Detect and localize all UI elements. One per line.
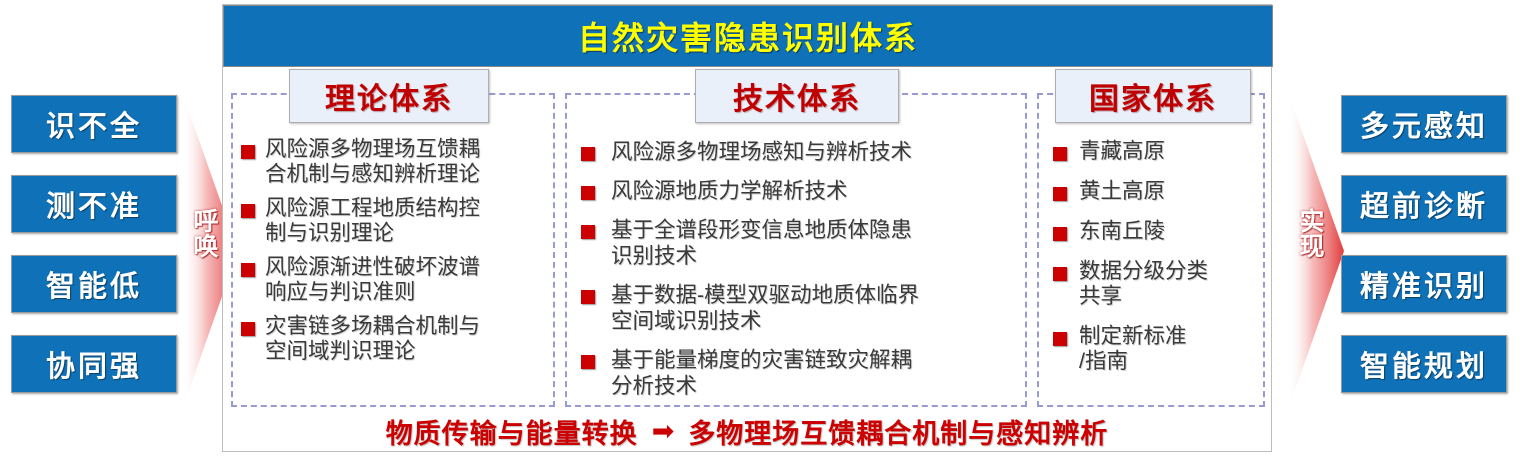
list-item: 东南丘陵 — [1049, 219, 1259, 244]
list-item: 数据分级分类 共享 — [1049, 259, 1259, 309]
right-item-1[interactable]: 超前诊断 — [1341, 175, 1507, 233]
list-item: 风险源多物理场感知与辨析技术 — [577, 139, 1021, 165]
right-item-1-label: 超前诊断 — [1360, 183, 1488, 225]
list-item: 基于数据-模型双驱动地质体临界 空间域识别技术 — [577, 282, 1021, 334]
list-item: 风险源多物理场互馈耦 合机制与感知辨析理论 — [239, 137, 549, 187]
column-national-header: 国家体系 — [1055, 69, 1251, 123]
list-item: 青藏高原 — [1049, 139, 1259, 164]
column-national-header-label: 国家体系 — [1089, 74, 1217, 118]
panel-footer: 物质传输与能量转换 ➡ 多物理场互馈耦合机制与感知辨析 — [223, 409, 1271, 453]
main-framework-panel: 自然灾害隐患识别体系 理论体系 风险源多物理场互馈耦 合机制与感知辨析理论 风险… — [222, 4, 1272, 452]
right-arrow-group: 实 现 — [1284, 92, 1348, 410]
left-problem-column: 识不全 测不准 智能低 协同强 — [11, 95, 177, 415]
right-item-2-label: 精准识别 — [1360, 263, 1488, 305]
right-arrow-label-line1: 实 — [1288, 210, 1336, 235]
right-goal-column: 多元感知 超前诊断 精准识别 智能规划 — [1341, 95, 1507, 415]
diagram-root: 识不全 测不准 智能低 协同强 呼 唤 — [0, 0, 1540, 456]
left-item-1[interactable]: 测不准 — [11, 175, 177, 233]
left-item-0[interactable]: 识不全 — [11, 95, 177, 153]
panel-title-bar: 自然灾害隐患识别体系 — [223, 5, 1273, 67]
column-theory-header-label: 理论体系 — [325, 74, 453, 118]
left-item-0-label: 识不全 — [46, 103, 142, 145]
column-theory: 理论体系 风险源多物理场互馈耦 合机制与感知辨析理论 风险源工程地质结构控 制与… — [231, 93, 555, 407]
right-item-3-label: 智能规划 — [1360, 343, 1488, 385]
left-item-2-label: 智能低 — [46, 263, 142, 305]
list-item: 基于能量梯度的灾害链致灾解耦 分析技术 — [577, 347, 1021, 399]
column-technology-header: 技术体系 — [695, 69, 899, 123]
list-item: 黄土高原 — [1049, 179, 1259, 204]
footer-right-text: 多物理场互馈耦合机制与感知辨析 — [688, 412, 1108, 451]
list-item: 风险源地质力学解析技术 — [577, 178, 1021, 204]
left-item-3[interactable]: 协同强 — [11, 335, 177, 393]
right-item-3[interactable]: 智能规划 — [1341, 335, 1507, 393]
right-arrow-label-line2: 现 — [1288, 235, 1336, 260]
column-national-list: 青藏高原 黄土高原 东南丘陵 数据分级分类 共享 制定新标准 /指南 — [1049, 139, 1259, 389]
right-item-0[interactable]: 多元感知 — [1341, 95, 1507, 153]
column-theory-header: 理论体系 — [289, 69, 489, 123]
list-item: 灾害链多场耦合机制与 空间域判识理论 — [239, 314, 549, 364]
column-technology: 技术体系 风险源多物理场感知与辨析技术 风险源地质力学解析技术 基于全谱段形变信… — [565, 93, 1027, 407]
column-technology-list: 风险源多物理场感知与辨析技术 风险源地质力学解析技术 基于全谱段形变信息地质体隐… — [577, 139, 1021, 412]
left-item-2[interactable]: 智能低 — [11, 255, 177, 313]
right-item-2[interactable]: 精准识别 — [1341, 255, 1507, 313]
list-item: 基于全谱段形变信息地质体隐患 识别技术 — [577, 217, 1021, 269]
list-item: 制定新标准 /指南 — [1049, 324, 1259, 374]
left-item-3-label: 协同强 — [46, 343, 142, 385]
column-theory-list: 风险源多物理场互馈耦 合机制与感知辨析理论 风险源工程地质结构控 制与识别理论 … — [239, 137, 549, 373]
footer-arrow-icon: ➡ — [652, 418, 675, 445]
footer-left-text: 物质传输与能量转换 — [386, 412, 638, 451]
list-item: 风险源渐进性破坏波谱 响应与判识准则 — [239, 255, 549, 305]
page-title: 自然灾害隐患识别体系 — [578, 13, 918, 59]
left-item-1-label: 测不准 — [46, 183, 142, 225]
column-technology-header-label: 技术体系 — [733, 74, 861, 118]
right-arrow-label: 实 现 — [1288, 210, 1336, 259]
right-item-0-label: 多元感知 — [1360, 103, 1488, 145]
column-national: 国家体系 青藏高原 黄土高原 东南丘陵 数据分级分类 共享 制定新标准 /指南 — [1037, 93, 1265, 407]
list-item: 风险源工程地质结构控 制与识别理论 — [239, 196, 549, 246]
